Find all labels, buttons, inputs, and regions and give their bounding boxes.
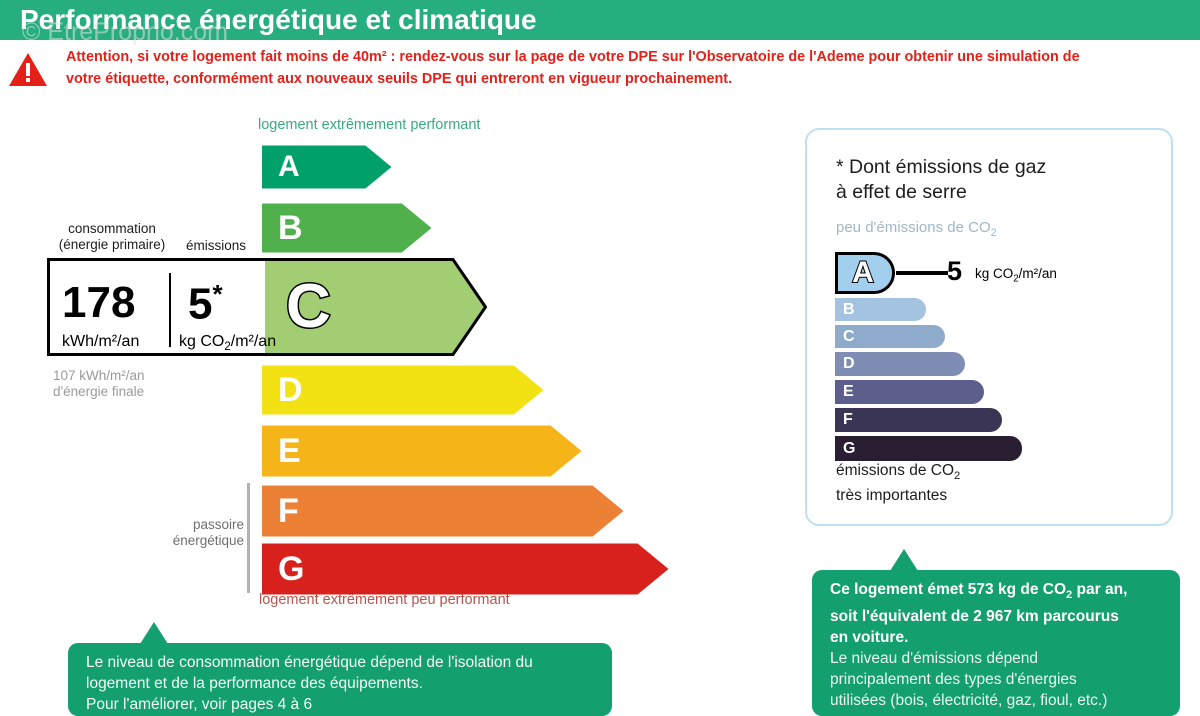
energy-bar-letter-b: B (278, 211, 303, 245)
co2-bottom-line2: très importantes (836, 486, 960, 506)
emission-unit-post: /m²/an (231, 333, 276, 350)
warning-text: Attention, si votre logement fait moins … (66, 46, 1186, 90)
callout-left-tip (140, 622, 168, 644)
passoire-bracket (247, 483, 250, 593)
co2-bottom-line1: émissions de CO2 (836, 461, 960, 486)
callout-right-tip (890, 549, 918, 571)
energy-bar-f: F (262, 484, 625, 538)
warning-triangle-icon (8, 52, 48, 88)
co2-bar-shape-f (835, 408, 1002, 432)
energy-bar-g: G (262, 542, 670, 596)
final-energy-value: 107 kWh/m²/an (53, 368, 145, 384)
callout-right-text: Ce logement émet 573 kg de CO2 par an, s… (830, 579, 1168, 711)
co2-subtitle: peu d'émissions de CO2 (836, 219, 997, 239)
co2-bar-letter-g: G (843, 441, 855, 457)
co2-bar-letter-b: B (843, 302, 855, 318)
energy-bar-a: A (262, 144, 393, 190)
consumption-label-line2: (énergie primaire) (52, 237, 172, 253)
co2-unit-post: /m²/an (1019, 266, 1057, 281)
callout-right-bold1-post: par an, (1072, 581, 1127, 598)
callout-left-text: Le niveau de consommation énergétique dé… (86, 652, 602, 715)
co2-bottom-caption: émissions de CO2 très importantes (836, 461, 960, 506)
callout-left: Le niveau de consommation énergétique dé… (68, 643, 612, 716)
energy-bar-letter-d: D (278, 373, 303, 407)
callout-right-bold1-pre: Ce logement émet 573 kg de CO (830, 581, 1066, 598)
final-energy-note: 107 kWh/m²/an d'énergie finale (53, 368, 145, 400)
energy-bar-letter-e: E (278, 434, 301, 468)
final-energy-caption: d'énergie finale (53, 384, 145, 400)
emission-value: 5 (188, 280, 212, 329)
co2-bar-shape-g (835, 436, 1022, 461)
co2-subtitle-sub: 2 (991, 227, 997, 239)
scale-caption-top: logement extrêmement performant (258, 117, 480, 133)
energy-bar-letter-a: A (278, 152, 300, 182)
co2-bar-c: C (835, 325, 945, 348)
callout-right-light-line3: utilisées (bois, électricité, gaz, fioul… (830, 690, 1168, 711)
energy-bar-d: D (262, 364, 545, 416)
co2-bar-e: E (835, 380, 984, 404)
co2-title-line1: * Dont émissions de gaz (836, 155, 1046, 180)
co2-value: 5 (947, 256, 962, 287)
co2-bottom-sub: 2 (954, 470, 960, 482)
co2-bar-b: B (835, 298, 926, 321)
emissions-label: émissions (174, 238, 258, 253)
co2-bar-g: G (835, 436, 1022, 461)
consumption-unit: kWh/m²/an (62, 333, 139, 351)
warning-line-1: Attention, si votre logement fait moins … (66, 46, 1186, 68)
co2-unit-pre: kg CO (975, 266, 1013, 281)
emission-unit-pre: kg CO (179, 333, 224, 350)
value-box: 178 kWh/m²/an 5* kg CO2/m²/an (47, 258, 265, 356)
energy-bar-c: C (262, 258, 487, 356)
co2-bottom-pre: émissions de CO (836, 462, 954, 479)
co2-subtitle-pre: peu d'émissions de CO (836, 219, 991, 236)
consumption-label: consommation (énergie primaire) (52, 221, 172, 253)
co2-title-line2: à effet de serre (836, 180, 1046, 205)
co2-bar-letter-d: D (843, 356, 855, 372)
dpe-energy-label-page: Performance énergétique et climatique © … (0, 0, 1200, 716)
co2-panel-title: * Dont émissions de gaz à effet de serre (836, 155, 1046, 205)
callout-right-bold-line2: soit l'équivalent de 2 967 km parcourus (830, 606, 1168, 627)
passoire-label-line2: énergétique (148, 533, 244, 549)
energy-bar-e: E (262, 424, 583, 478)
callout-left-line2: logement et de la performance des équipe… (86, 673, 602, 694)
callout-right-bold-line1: Ce logement émet 573 kg de CO2 par an, (830, 579, 1168, 606)
warning-line-2: votre étiquette, conformément aux nouvea… (66, 68, 1186, 90)
callout-right-light-line1: Le niveau d'émissions dépend (830, 648, 1168, 669)
co2-bar-f: F (835, 408, 1002, 432)
energy-bar-shape-g (262, 542, 670, 596)
emission-star: * (212, 279, 222, 309)
co2-bar-letter-e: E (843, 384, 854, 400)
energy-bar-letter-f: F (278, 494, 299, 528)
co2-value-unit: kg CO2/m²/an (975, 266, 1057, 285)
co2-selected-grade-letter: A (843, 256, 883, 290)
co2-bar-d: D (835, 352, 965, 376)
co2-bar-letter-f: F (843, 412, 853, 428)
emission-unit: kg CO2/m²/an (179, 333, 276, 353)
energy-bar-shape-d (262, 364, 545, 416)
emission-value-group: 5* (188, 281, 223, 327)
energy-bar-letter-g: G (278, 552, 304, 586)
energy-bar-shape-e (262, 424, 583, 478)
callout-left-line1: Le niveau de consommation énergétique dé… (86, 652, 602, 673)
callout-left-line3: Pour l'améliorer, voir pages 4 à 6 (86, 694, 602, 715)
value-box-divider (169, 273, 171, 347)
page-title: Performance énergétique et climatique (20, 4, 537, 36)
energy-bar-shape-f (262, 484, 625, 538)
passoire-label-line1: passoire (148, 517, 244, 533)
callout-right: Ce logement émet 573 kg de CO2 par an, s… (812, 570, 1180, 716)
co2-bar-letter-c: C (843, 329, 855, 345)
callout-right-bold-line3: en voiture. (830, 627, 1168, 648)
co2-leader-line (896, 271, 948, 275)
energy-bar-b: B (262, 202, 433, 254)
consumption-value: 178 (62, 281, 135, 325)
warning-banner: Attention, si votre logement fait moins … (0, 42, 1200, 98)
callout-right-light-line2: principalement des types d'énergies (830, 669, 1168, 690)
co2-bar-shape-e (835, 380, 984, 404)
passoire-label: passoire énergétique (148, 517, 244, 549)
energy-bar-letter-c: C (286, 276, 331, 338)
consumption-label-line1: consommation (52, 221, 172, 237)
